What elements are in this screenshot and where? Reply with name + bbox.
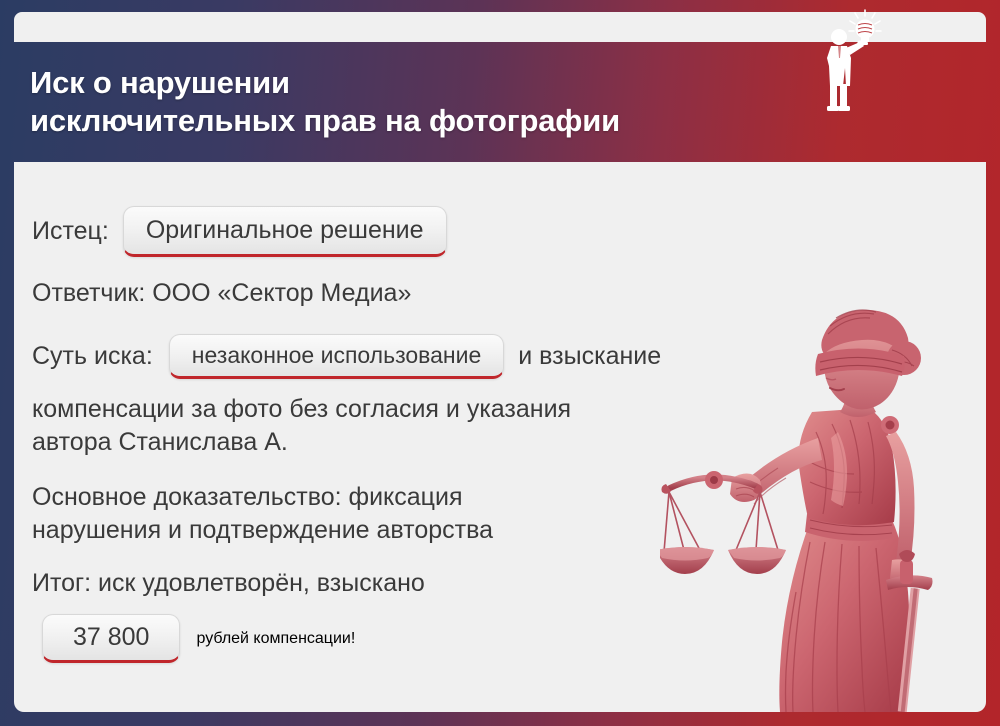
defendant-line: Ответчик: ООО «Сектор Медиа» (32, 277, 732, 310)
plaintiff-label: Истец: (32, 215, 109, 249)
page-title: Иск о нарушении исключительных прав на ф… (30, 64, 620, 140)
result-line: Итог: иск удовлетворён, взыскано (32, 567, 732, 600)
claim-label: Суть иска: (32, 340, 153, 374)
claim-row: Суть иска: незаконное использование и вз… (32, 334, 732, 380)
amount-value-chip[interactable]: 37 800 (42, 614, 180, 663)
claim-tail-text: и взыскание (518, 340, 661, 374)
amount-tail-text: рублей компенсации! (196, 630, 355, 648)
infographic-card: Иск о нарушении исключительных прав на ф… (0, 0, 1000, 726)
evidence-paragraph: Основное доказательство: фиксация наруше… (32, 481, 732, 547)
claim-paragraph: компенсации за фото без согласия и указа… (32, 393, 732, 459)
case-details: Истец: Оригинальное решение Ответчик: ОО… (14, 162, 732, 663)
amount-row: 37 800 рублей компенсации! (32, 614, 732, 663)
plaintiff-row: Истец: Оригинальное решение (32, 206, 732, 257)
plaintiff-value-chip[interactable]: Оригинальное решение (123, 206, 447, 257)
claim-value-chip[interactable]: незаконное использование (169, 334, 504, 380)
businessman-with-lightbulb-icon (810, 8, 890, 113)
card-body: Истец: Оригинальное решение Ответчик: ОО… (14, 162, 986, 712)
